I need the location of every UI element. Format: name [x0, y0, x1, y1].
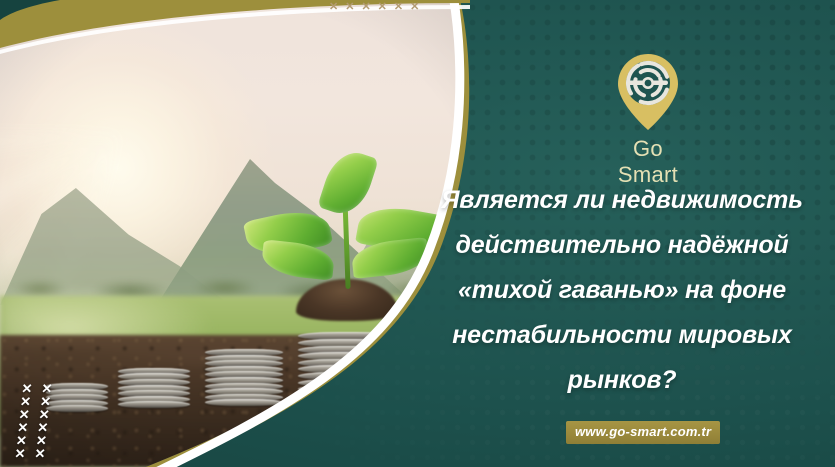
headline-line: действительно надёжной: [414, 223, 830, 268]
headline-line: «тихой гаванью» на фоне: [414, 268, 830, 313]
x-mark: ✕: [361, 2, 370, 13]
x-mark: ✕: [37, 422, 56, 433]
headline-line: Является ли недвижимость: [414, 178, 830, 223]
photo-panel: [0, 0, 476, 467]
decor-x-row-top: ✕ ✕ ✕ ✕ ✕ ✕: [329, 2, 419, 13]
brand-logo[interactable]: Go Smart: [600, 52, 696, 188]
x-mark: ✕: [21, 383, 40, 394]
website-url-bar[interactable]: www.go-smart.com.tr: [566, 421, 720, 444]
headline-line: нестабильности мировых: [414, 313, 830, 358]
x-mark: ✕: [41, 383, 60, 394]
x-mark: ✕: [35, 435, 54, 446]
website-url-text: www.go-smart.com.tr: [575, 424, 711, 439]
x-mark: ✕: [15, 435, 34, 446]
x-mark: ✕: [378, 2, 387, 13]
x-mark: ✕: [410, 2, 419, 13]
x-mark: ✕: [39, 396, 58, 407]
x-mark: ✕: [329, 2, 338, 13]
x-mark: ✕: [18, 409, 37, 420]
decor-x-grid-bottom: ✕ ✕ ✕ ✕ ✕ ✕ ✕ ✕ ✕ ✕ ✕ ✕: [14, 383, 60, 459]
x-mark: ✕: [17, 422, 36, 433]
location-pin-logo-icon: [614, 52, 682, 132]
x-mark: ✕: [14, 448, 33, 459]
social-media-post-card: ✕ ✕ ✕ ✕ ✕ ✕ ✕ ✕ ✕ ✕ ✕ ✕ ✕ ✕ ✕ ✕ ✕ ✕ Go S…: [0, 0, 835, 467]
x-mark: ✕: [394, 2, 403, 13]
x-mark: ✕: [38, 409, 57, 420]
x-mark: ✕: [345, 2, 354, 13]
x-mark: ✕: [19, 396, 38, 407]
headline: Является ли недвижимость действительно н…: [414, 178, 830, 403]
white-curve-divider: [0, 0, 476, 467]
headline-line: рынков?: [414, 358, 830, 403]
x-mark: ✕: [34, 448, 53, 459]
